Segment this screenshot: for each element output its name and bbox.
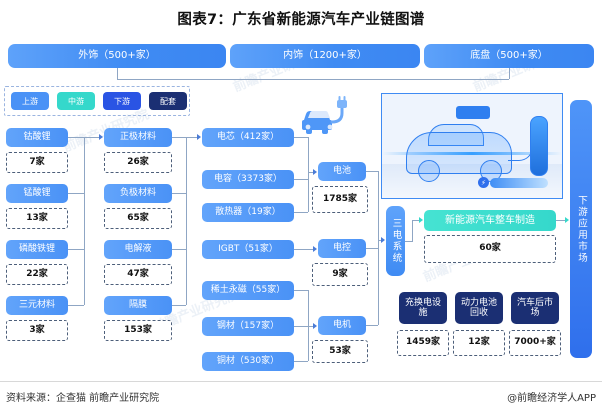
arrow-icon (99, 134, 103, 140)
count-battery-recycling: 12家 (453, 330, 505, 356)
legend-item-downstream[interactable]: 下游 (103, 92, 141, 110)
connector (117, 68, 118, 79)
count-motor: 53家 (312, 340, 368, 363)
node-steel[interactable]: 钢材（157家） (202, 317, 294, 336)
ev-charging-photo: ⚡ (381, 93, 563, 199)
count-auto-aftermarket: 7000+家 (509, 330, 561, 356)
node-cathode-material[interactable]: 正极材料 (104, 128, 172, 147)
legend-item-support[interactable]: 配套 (149, 92, 187, 110)
node-radiator[interactable]: 散热器（19家） (202, 203, 294, 222)
count-electronic-control: 9家 (312, 263, 368, 286)
count-cathode-material: 26家 (104, 152, 172, 173)
arrow-icon (565, 217, 569, 223)
node-battery[interactable]: 电池 (318, 162, 366, 181)
source-text: 资料来源：企查猫 前瞻产业研究院 (6, 389, 159, 404)
node-electrolyte[interactable]: 电解液 (104, 240, 172, 259)
ev-charging-icon (296, 96, 352, 138)
arrow-icon (313, 246, 317, 252)
node-ev-manufacturing[interactable]: 新能源汽车整车制造 (424, 210, 556, 231)
connector (117, 79, 509, 80)
node-capacitor[interactable]: 电容（3373家） (202, 170, 294, 189)
node-auto-aftermarket[interactable]: 汽车后市场 (511, 292, 559, 324)
connector (68, 137, 84, 138)
connector (172, 249, 186, 250)
arrow-icon (313, 169, 317, 175)
arrow-icon (381, 237, 385, 243)
connector (294, 361, 308, 362)
bolt-icon: ⚡ (478, 177, 489, 188)
node-battery-cell[interactable]: 电芯（412家） (202, 128, 294, 147)
count-battery: 1785家 (312, 186, 368, 213)
legend-item-upstream[interactable]: 上游 (11, 92, 49, 110)
page-title: 图表7：广东省新能源汽车产业链图谱 (0, 8, 602, 29)
footer-divider (0, 381, 602, 382)
connector (366, 171, 378, 172)
node-motor[interactable]: 电机 (318, 316, 366, 335)
photo-progress-bar (490, 178, 548, 188)
node-battery-recycling[interactable]: 动力电池回收 (455, 292, 503, 324)
node-lithium-cobaltate[interactable]: 钴酸锂 (6, 128, 68, 147)
connector (366, 248, 378, 249)
count-ternary-material: 3家 (6, 320, 68, 341)
count-charging-facilities: 1459家 (397, 330, 449, 356)
photo-tag (456, 106, 490, 119)
connector (294, 326, 308, 327)
node-ternary-material[interactable]: 三元材料 (6, 296, 68, 315)
node-igbt[interactable]: IGBT（51家） (202, 240, 294, 259)
node-rare-earth-magnet[interactable]: 稀土永磁（55家） (202, 281, 294, 300)
node-downstream-market[interactable]: 下游应用市场 (570, 100, 592, 358)
connector (84, 137, 100, 138)
connector (294, 290, 308, 291)
count-separator: 153家 (104, 320, 172, 341)
node-three-electric-system[interactable]: 三电系统 (386, 206, 405, 276)
connector (172, 137, 186, 138)
count-anode-material: 65家 (104, 208, 172, 229)
node-electronic-control[interactable]: 电控 (318, 239, 366, 258)
connector (308, 137, 309, 212)
count-electrolyte: 47家 (104, 264, 172, 285)
connector (294, 249, 314, 250)
node-charging-facilities[interactable]: 充换电设施 (399, 292, 447, 324)
node-lithium-iron-phosphate[interactable]: 磷酸铁锂 (6, 240, 68, 259)
arrow-icon (419, 217, 423, 223)
chart-canvas: 前瞻产业研究院 前瞻产业研究院 前瞻产业研究院 前瞻产业研究院 前瞻产业研究院 … (0, 0, 602, 414)
connector (68, 305, 84, 306)
connector (68, 193, 84, 194)
count-lithium-cobaltate: 7家 (6, 152, 68, 173)
connector (294, 179, 308, 180)
connector (172, 305, 186, 306)
node-lithium-manganate[interactable]: 锰酸锂 (6, 184, 68, 203)
top-box-chassis[interactable]: 底盘（500+家） (424, 44, 594, 68)
connector (68, 249, 84, 250)
node-separator[interactable]: 隔膜 (104, 296, 172, 315)
connector (509, 68, 510, 79)
arrow-icon (197, 134, 201, 140)
connector (294, 212, 308, 213)
connector (186, 137, 187, 305)
legend-item-midstream[interactable]: 中游 (57, 92, 95, 110)
connector (405, 241, 412, 242)
node-anode-material[interactable]: 负极材料 (104, 184, 172, 203)
photo-wheel (418, 160, 440, 182)
count-lithium-iron-phosphate: 22家 (6, 264, 68, 285)
count-lithium-manganate: 13家 (6, 208, 68, 229)
arrow-icon (313, 323, 317, 329)
top-box-interior[interactable]: 内饰（1200+家） (230, 44, 420, 68)
count-ev-manufacturing: 60家 (424, 235, 556, 263)
legend: 上游 中游 下游 配套 (4, 86, 190, 116)
connector (84, 137, 85, 305)
top-box-exterior[interactable]: 外饰（500+家） (8, 44, 226, 68)
connector (172, 193, 186, 194)
photo-charging-post (530, 116, 548, 176)
connector (366, 325, 378, 326)
connector (412, 220, 413, 242)
brand-text: @前瞻经济学人APP (507, 389, 596, 404)
connector (378, 171, 379, 325)
node-copper[interactable]: 铜材（530家） (202, 352, 294, 371)
